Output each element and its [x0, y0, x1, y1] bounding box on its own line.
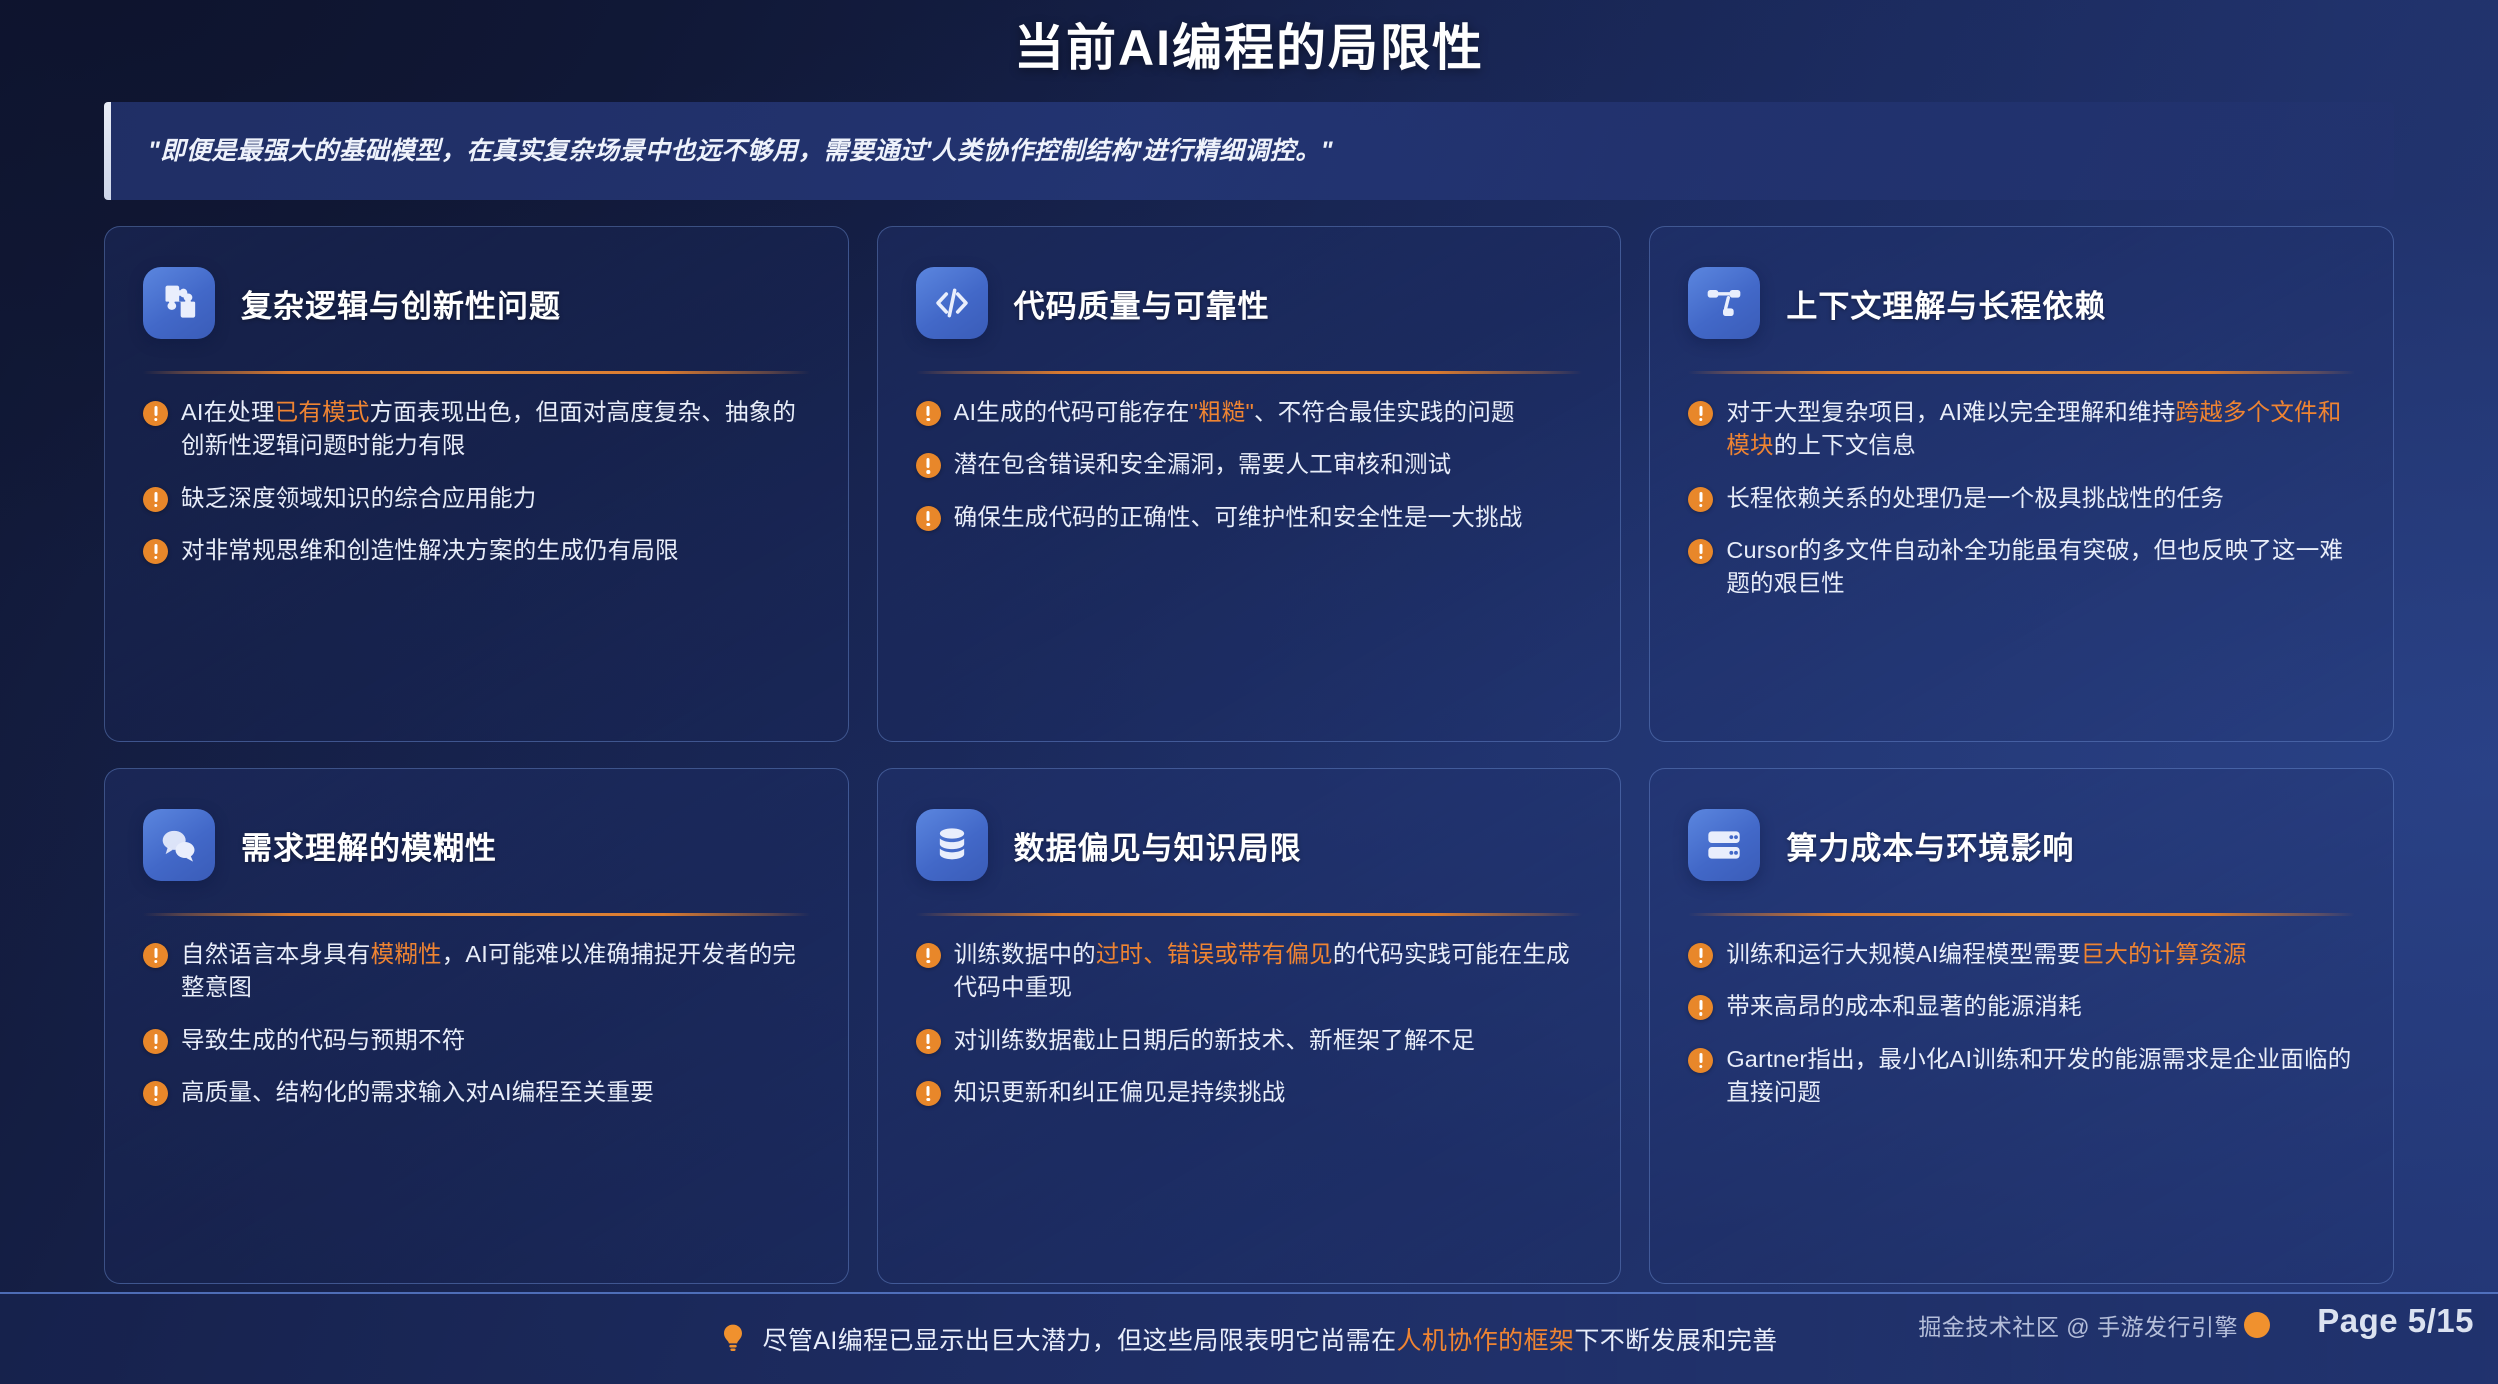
plain-text: 确保生成代码的正确性、可维护性和安全性是一大挑战 [954, 504, 1523, 530]
footer-note-text: 尽管AI编程已显示出巨大潜力，但这些局限表明它尚需在人机协作的框架下不断发展和完… [762, 1321, 1777, 1357]
alert-circle-icon [916, 1081, 941, 1106]
alert-circle-icon [916, 506, 941, 531]
plain-text: 对于大型复杂项目，AI难以完全理解和维持 [1726, 399, 2175, 425]
alert-circle-icon [916, 401, 941, 426]
plain-text: 的上下文信息 [1774, 432, 1916, 458]
alert-circle-icon [916, 453, 941, 478]
card-divider [916, 913, 1583, 916]
bullet-list: 自然语言本身具有模糊性，AI可能难以准确捕捉开发者的完整意图导致生成的代码与预期… [143, 938, 810, 1109]
card-header: 算力成本与环境影响 [1688, 803, 2355, 887]
alert-circle-icon [143, 401, 168, 426]
card-divider [1688, 913, 2355, 916]
plain-text: Gartner指出，最小化AI训练和开发的能源需求是企业面临的直接问题 [1726, 1046, 2351, 1105]
limitation-card: 复杂逻辑与创新性问题AI在处理已有模式方面表现出色，但面对高度复杂、抽象的创新性… [104, 226, 849, 742]
highlight-text: "粗糙" [1190, 399, 1254, 425]
card-header: 上下文理解与长程依赖 [1688, 261, 2355, 345]
card-title: 代码质量与可靠性 [1014, 281, 1270, 326]
highlight-text: 已有模式 [275, 399, 370, 425]
alert-circle-icon [143, 487, 168, 512]
list-item: 对训练数据截止日期后的新技术、新框架了解不足 [916, 1024, 1583, 1057]
footer-note: 尽管AI编程已显示出巨大潜力，但这些局限表明它尚需在人机协作的框架下不断发展和完… [720, 1321, 1777, 1357]
alert-circle-icon [143, 539, 168, 564]
card-title: 数据偏见与知识局限 [1014, 823, 1302, 868]
limitation-card: 数据偏见与知识局限训练数据中的过时、错误或带有偏见的代码实践可能在生成代码中重现… [877, 768, 1622, 1284]
list-item-text: 自然语言本身具有模糊性，AI可能难以准确捕捉开发者的完整意图 [181, 938, 810, 1005]
plain-text: 训练数据中的 [954, 941, 1096, 967]
plain-text: 下不断发展和完善 [1574, 1327, 1777, 1355]
card-divider [1688, 371, 2355, 374]
card-header: 代码质量与可靠性 [916, 261, 1583, 345]
limitation-card-grid: 复杂逻辑与创新性问题AI在处理已有模式方面表现出色，但面对高度复杂、抽象的创新性… [0, 200, 2498, 1292]
list-item-text: 导致生成的代码与预期不符 [181, 1024, 810, 1057]
plain-text: 训练和运行大规模AI编程模型需要 [1726, 941, 2080, 967]
chat-bubbles-icon [143, 809, 215, 881]
list-item-text: 训练和运行大规模AI编程模型需要巨大的计算资源 [1726, 938, 2355, 971]
plain-text: 知识更新和纠正偏见是持续挑战 [954, 1079, 1286, 1105]
bullet-list: 训练和运行大规模AI编程模型需要巨大的计算资源带来高昂的成本和显著的能源消耗Ga… [1688, 938, 2355, 1109]
list-item: 缺乏深度领域知识的综合应用能力 [143, 482, 810, 515]
card-title: 算力成本与环境影响 [1786, 823, 2074, 868]
list-item-text: 对非常规思维和创造性解决方案的生成仍有局限 [181, 534, 810, 567]
slide-root: 当前AI编程的局限性 "即便是最强大的基础模型，在真实复杂场景中也远不够用，需要… [0, 0, 2498, 1384]
plain-text: 长程依赖关系的处理仍是一个极具挑战性的任务 [1726, 485, 2224, 511]
code-icon [916, 267, 988, 339]
limitation-card: 上下文理解与长程依赖对于大型复杂项目，AI难以完全理解和维持跨越多个文件和模块的… [1649, 226, 2394, 742]
card-divider [143, 913, 810, 916]
list-item: 训练数据中的过时、错误或带有偏见的代码实践可能在生成代码中重现 [916, 938, 1583, 1005]
slide-footer: 尽管AI编程已显示出巨大潜力，但这些局限表明它尚需在人机协作的框架下不断发展和完… [0, 1292, 2498, 1384]
list-item-text: 对于大型复杂项目，AI难以完全理解和维持跨越多个文件和模块的上下文信息 [1726, 396, 2355, 463]
list-item: Gartner指出，最小化AI训练和开发的能源需求是企业面临的直接问题 [1688, 1043, 2355, 1110]
bullet-list: 训练数据中的过时、错误或带有偏见的代码实践可能在生成代码中重现对训练数据截止日期… [916, 938, 1583, 1109]
bullet-list: AI在处理已有模式方面表现出色，但面对高度复杂、抽象的创新性逻辑问题时能力有限缺… [143, 396, 810, 567]
plain-text: AI生成的代码可能存在 [954, 399, 1190, 425]
list-item-text: 潜在包含错误和安全漏洞，需要人工审核和测试 [954, 448, 1583, 481]
database-icon [916, 809, 988, 881]
list-item: 高质量、结构化的需求输入对AI编程至关重要 [143, 1076, 810, 1109]
list-item: 长程依赖关系的处理仍是一个极具挑战性的任务 [1688, 482, 2355, 515]
bullet-list: AI生成的代码可能存在"粗糙"、不符合最佳实践的问题潜在包含错误和安全漏洞，需要… [916, 396, 1583, 534]
sitemap-icon [1688, 267, 1760, 339]
list-item: 带来高昂的成本和显著的能源消耗 [1688, 990, 2355, 1023]
plain-text: Cursor的多文件自动补全功能虽有突破，但也反映了这一难题的艰巨性 [1726, 537, 2343, 596]
list-item-text: 确保生成代码的正确性、可维护性和安全性是一大挑战 [954, 501, 1583, 534]
list-item-text: 知识更新和纠正偏见是持续挑战 [954, 1076, 1583, 1109]
plain-text: 对训练数据截止日期后的新技术、新框架了解不足 [954, 1027, 1475, 1053]
list-item-text: Gartner指出，最小化AI训练和开发的能源需求是企业面临的直接问题 [1726, 1043, 2355, 1110]
list-item: Cursor的多文件自动补全功能虽有突破，但也反映了这一难题的艰巨性 [1688, 534, 2355, 601]
alert-circle-icon [1688, 401, 1713, 426]
page-title: 当前AI编程的局限性 [0, 0, 2498, 84]
list-item-text: AI生成的代码可能存在"粗糙"、不符合最佳实践的问题 [954, 396, 1583, 429]
puzzle-icon [143, 267, 215, 339]
card-divider [143, 371, 810, 374]
alert-circle-icon [1688, 487, 1713, 512]
card-header: 需求理解的模糊性 [143, 803, 810, 887]
plain-text: 导致生成的代码与预期不符 [181, 1027, 465, 1053]
list-item-text: Cursor的多文件自动补全功能虽有突破，但也反映了这一难题的艰巨性 [1726, 534, 2355, 601]
card-header: 数据偏见与知识局限 [916, 803, 1583, 887]
limitation-card: 代码质量与可靠性AI生成的代码可能存在"粗糙"、不符合最佳实践的问题潜在包含错误… [877, 226, 1622, 742]
plain-text: 带来高昂的成本和显著的能源消耗 [1726, 993, 2082, 1019]
bullet-list: 对于大型复杂项目，AI难以完全理解和维持跨越多个文件和模块的上下文信息长程依赖关… [1688, 396, 2355, 601]
server-icon [1688, 809, 1760, 881]
alert-circle-icon [143, 943, 168, 968]
alert-circle-icon [1688, 943, 1713, 968]
plain-text: 潜在包含错误和安全漏洞，需要人工审核和测试 [954, 451, 1452, 477]
watermark: 掘金技术社区 @ 手游发行引擎 [1918, 1308, 2270, 1342]
plain-text: 自然语言本身具有 [181, 941, 371, 967]
list-item-text: 长程依赖关系的处理仍是一个极具挑战性的任务 [1726, 482, 2355, 515]
list-item-text: 训练数据中的过时、错误或带有偏见的代码实践可能在生成代码中重现 [954, 938, 1583, 1005]
lightbulb-icon [720, 1323, 746, 1355]
watermark-text: 掘金技术社区 @ 手游发行引擎 [1918, 1308, 2238, 1342]
list-item: 确保生成代码的正确性、可维护性和安全性是一大挑战 [916, 501, 1583, 534]
plain-text: 尽管AI编程已显示出巨大潜力，但这些局限表明它尚需在 [762, 1327, 1396, 1355]
avatar [2244, 1312, 2270, 1338]
plain-text: AI在处理 [181, 399, 275, 425]
highlight-text: 人机协作的框架 [1397, 1327, 1575, 1355]
card-title: 需求理解的模糊性 [241, 823, 497, 868]
alert-circle-icon [1688, 995, 1713, 1020]
card-title: 上下文理解与长程依赖 [1786, 281, 2106, 326]
list-item: 训练和运行大规模AI编程模型需要巨大的计算资源 [1688, 938, 2355, 971]
alert-circle-icon [916, 1029, 941, 1054]
list-item: AI在处理已有模式方面表现出色，但面对高度复杂、抽象的创新性逻辑问题时能力有限 [143, 396, 810, 463]
quote-banner: "即便是最强大的基础模型，在真实复杂场景中也远不够用，需要通过'人类协作控制结构… [104, 102, 2394, 200]
alert-circle-icon [1688, 1048, 1713, 1073]
list-item: 对非常规思维和创造性解决方案的生成仍有局限 [143, 534, 810, 567]
quote-accent-bar [104, 102, 111, 200]
alert-circle-icon [1688, 539, 1713, 564]
card-title: 复杂逻辑与创新性问题 [241, 281, 561, 326]
limitation-card: 需求理解的模糊性自然语言本身具有模糊性，AI可能难以准确捕捉开发者的完整意图导致… [104, 768, 849, 1284]
plain-text: 高质量、结构化的需求输入对AI编程至关重要 [181, 1079, 654, 1105]
list-item-text: 对训练数据截止日期后的新技术、新框架了解不足 [954, 1024, 1583, 1057]
list-item: 导致生成的代码与预期不符 [143, 1024, 810, 1057]
highlight-text: 巨大的计算资源 [2081, 941, 2247, 967]
alert-circle-icon [143, 1081, 168, 1106]
card-header: 复杂逻辑与创新性问题 [143, 261, 810, 345]
highlight-text: 过时、错误或带有偏见 [1096, 941, 1333, 967]
list-item: 潜在包含错误和安全漏洞，需要人工审核和测试 [916, 448, 1583, 481]
list-item: 自然语言本身具有模糊性，AI可能难以准确捕捉开发者的完整意图 [143, 938, 810, 1005]
alert-circle-icon [143, 1029, 168, 1054]
limitation-card: 算力成本与环境影响训练和运行大规模AI编程模型需要巨大的计算资源带来高昂的成本和… [1649, 768, 2394, 1284]
alert-circle-icon [916, 943, 941, 968]
plain-text: 缺乏深度领域知识的综合应用能力 [181, 485, 537, 511]
plain-text: 对非常规思维和创造性解决方案的生成仍有局限 [181, 537, 679, 563]
card-divider [916, 371, 1583, 374]
list-item: 对于大型复杂项目，AI难以完全理解和维持跨越多个文件和模块的上下文信息 [1688, 396, 2355, 463]
plain-text: 、不符合最佳实践的问题 [1254, 399, 1515, 425]
list-item: AI生成的代码可能存在"粗糙"、不符合最佳实践的问题 [916, 396, 1583, 429]
list-item-text: 带来高昂的成本和显著的能源消耗 [1726, 990, 2355, 1023]
highlight-text: 模糊性 [371, 941, 442, 967]
page-number: Page 5/15 [2317, 1302, 2474, 1340]
list-item-text: 缺乏深度领域知识的综合应用能力 [181, 482, 810, 515]
list-item-text: 高质量、结构化的需求输入对AI编程至关重要 [181, 1076, 810, 1109]
list-item: 知识更新和纠正偏见是持续挑战 [916, 1076, 1583, 1109]
quote-text: "即便是最强大的基础模型，在真实复杂场景中也远不够用，需要通过'人类协作控制结构… [104, 134, 1363, 169]
list-item-text: AI在处理已有模式方面表现出色，但面对高度复杂、抽象的创新性逻辑问题时能力有限 [181, 396, 810, 463]
